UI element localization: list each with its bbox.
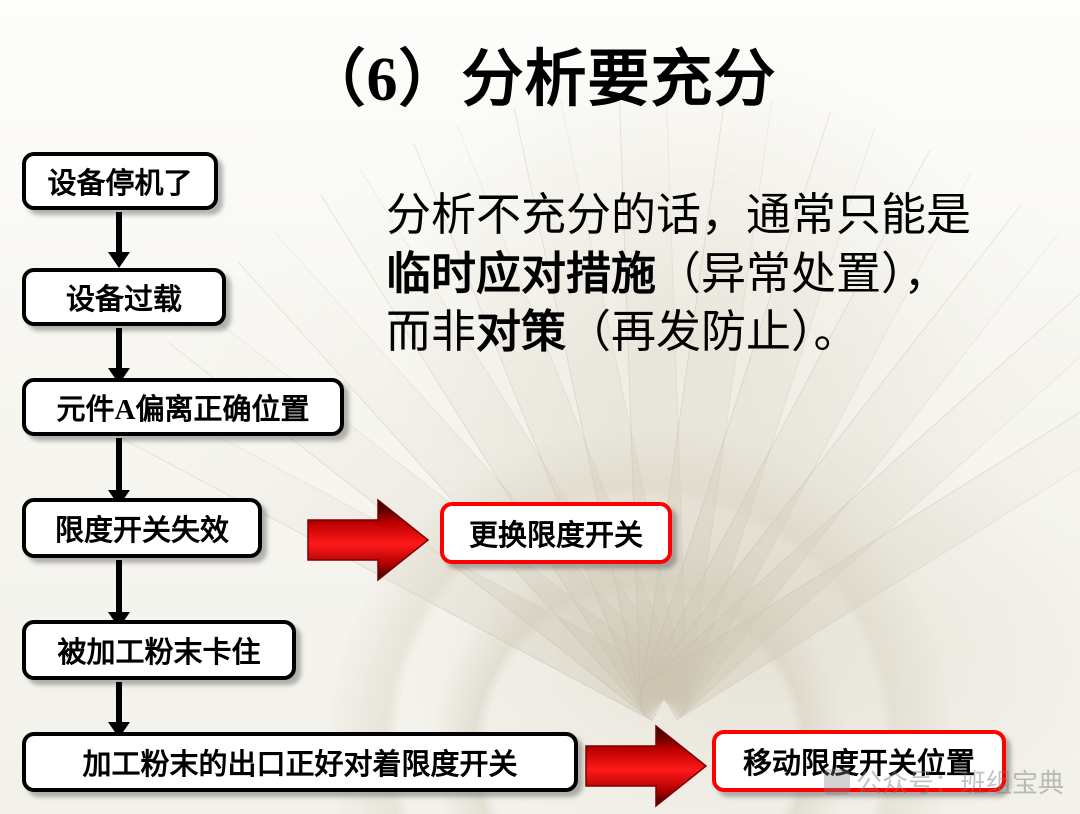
watermark-logo-icon (824, 769, 850, 795)
right-block-arrow-icon-2 (584, 724, 708, 808)
page-title: （6）分析要充分 (0, 28, 1080, 118)
action-node-replace-limit-switch[interactable]: 更换限度开关 (440, 502, 672, 564)
connector-3 (116, 438, 122, 496)
explanation-text: 分析不充分的话，通常只能是 临时应对措施（异常处置）， 而非对策（再发防止）。 (386, 186, 1046, 362)
flow-node-powder-outlet-faces-switch[interactable]: 加工粉末的出口正好对着限度开关 (22, 732, 578, 792)
flow-node-powder-jammed[interactable]: 被加工粉末卡住 (22, 620, 296, 680)
down-arrow-icon-1 (108, 252, 130, 268)
watermark: 公众号：班组宝典 (824, 763, 1064, 800)
flow-node-equipment-overload[interactable]: 设备过载 (22, 268, 226, 326)
explanation-line-2-rest: （异常处置）， (656, 249, 949, 299)
watermark-text: 公众号：班组宝典 (856, 763, 1064, 800)
explanation-line-3-bold: 对策 (476, 307, 566, 357)
explanation-line-2: 临时应对措施（异常处置）， (386, 245, 1046, 304)
flow-node-part-a-misaligned[interactable]: 元件A偏离正确位置 (22, 378, 344, 436)
explanation-line-3-pre: 而非 (386, 307, 476, 357)
explanation-line-2-bold: 临时应对措施 (386, 249, 656, 299)
explanation-line-1: 分析不充分的话，通常只能是 (386, 186, 1046, 245)
flow-node-limit-switch-failure[interactable]: 限度开关失效 (22, 498, 262, 558)
slide-canvas: （6）分析要充分 分析不充分的话，通常只能是 临时应对措施（异常处置）， 而非对… (0, 0, 1080, 814)
connector-4 (116, 560, 122, 618)
explanation-line-3-rest: （再发防止）。 (566, 307, 859, 357)
explanation-line-3: 而非对策（再发防止）。 (386, 303, 1046, 362)
flow-node-equipment-stopped[interactable]: 设备停机了 (22, 152, 218, 210)
right-block-arrow-icon-1 (306, 498, 430, 582)
